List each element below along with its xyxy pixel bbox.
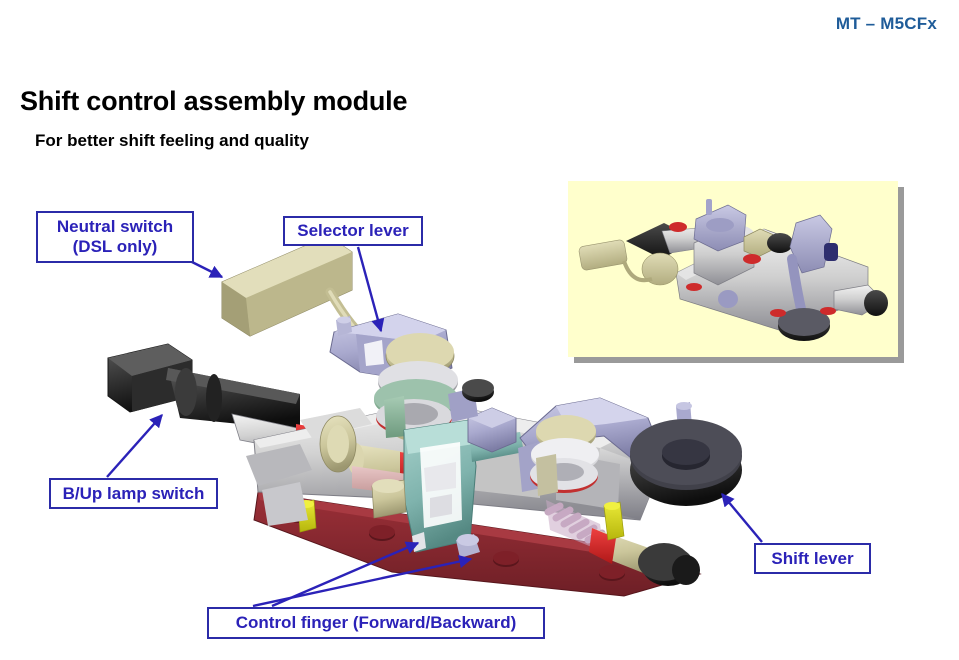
slide-canvas: MT – M5CFx Shift control assembly module… — [0, 0, 959, 660]
callout-shift-lever[interactable]: Shift lever — [754, 543, 871, 574]
right-bearing-stack — [530, 415, 599, 496]
plate-boss — [372, 479, 406, 518]
selector-bearing-stack — [374, 333, 458, 438]
inset-photo-frame — [568, 181, 898, 357]
callout-control-finger[interactable]: Control finger (Forward/Backward) — [207, 607, 545, 639]
callout-neutral-switch[interactable]: Neutral switch (DSL only) — [36, 211, 194, 263]
callout-bup-lamp-switch[interactable]: B/Up lamp switch — [49, 478, 218, 509]
inset-assembly-render — [568, 181, 898, 357]
callout-selector-lever[interactable]: Selector lever — [283, 216, 423, 246]
